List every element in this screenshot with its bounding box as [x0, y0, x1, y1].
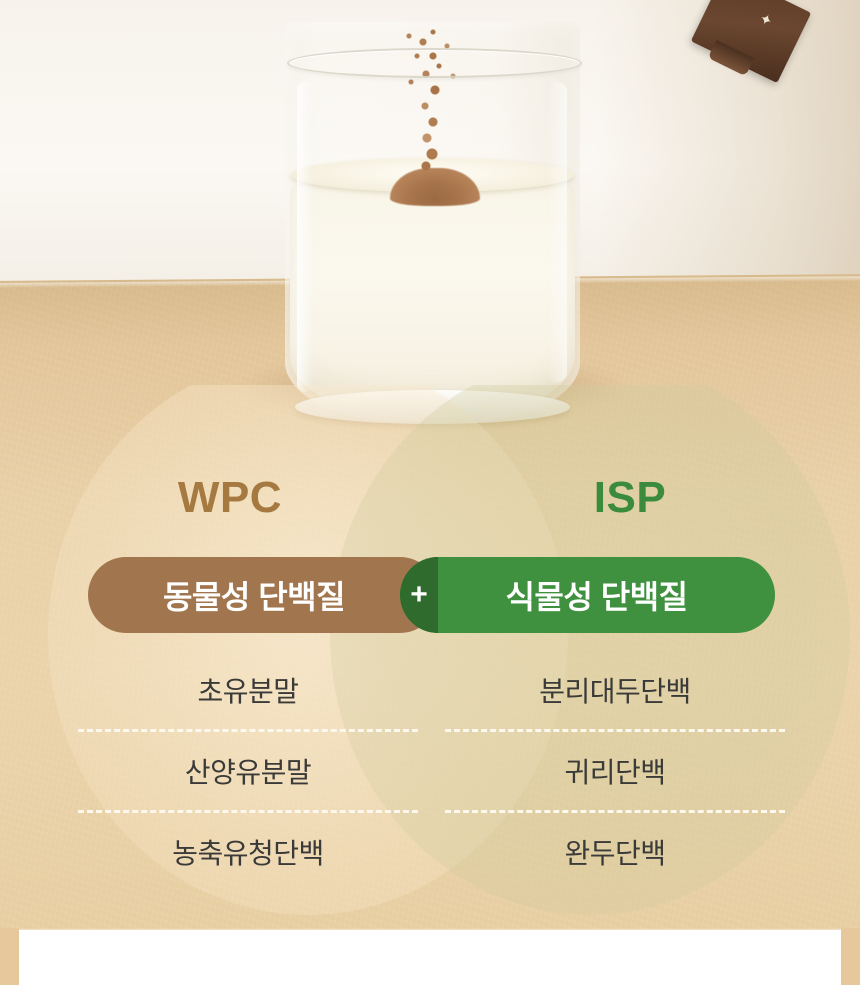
bottom-strip-left	[0, 928, 19, 985]
glass-highlight-right	[547, 82, 567, 382]
wpc-ingredient-list: 초유분말 산양유분말 농축유청단백	[78, 651, 418, 891]
bottom-strip-right	[841, 928, 860, 985]
milk-glass: ✦	[285, 22, 580, 427]
bottom-white-panel	[19, 931, 841, 985]
ingredient-lists: 초유분말 산양유분말 농축유청단백 분리대두단백 귀리단백 완두단백	[0, 651, 860, 901]
list-item: 초유분말	[78, 651, 418, 729]
column-wpc: WPC	[40, 455, 420, 523]
product-detail-page: ✦ WPC ISP 동물성 단백질 식물성 단백질 +	[0, 0, 860, 985]
plant-protein-badge-label: 식물성 단백질	[487, 572, 687, 618]
list-item: 분리대두단백	[445, 651, 785, 729]
badge-row: 동물성 단백질 식물성 단백질 +	[0, 557, 860, 639]
glass-highlight-left	[297, 82, 313, 392]
list-item: 완두단백	[445, 810, 785, 891]
isp-code-title: ISP	[440, 455, 820, 523]
plant-protein-badge: 식물성 단백질	[400, 557, 775, 633]
list-item: 농축유청단백	[78, 810, 418, 891]
isp-ingredient-list: 분리대두단백 귀리단백 완두단백	[445, 651, 785, 891]
protein-comparison-section: WPC ISP 동물성 단백질 식물성 단백질 + 초유분말 산양유분말 농축유…	[0, 455, 860, 930]
plus-icon: +	[400, 557, 438, 633]
animal-protein-badge: 동물성 단백질	[88, 557, 438, 633]
list-item: 산양유분말	[78, 729, 418, 810]
wpc-code-title: WPC	[40, 455, 420, 523]
column-isp: ISP	[440, 455, 820, 523]
animal-protein-badge-label: 동물성 단백질	[163, 572, 363, 618]
glass-rim	[287, 48, 582, 78]
sachet-logo-icon: ✦	[756, 10, 782, 35]
list-item: 귀리단백	[445, 729, 785, 810]
